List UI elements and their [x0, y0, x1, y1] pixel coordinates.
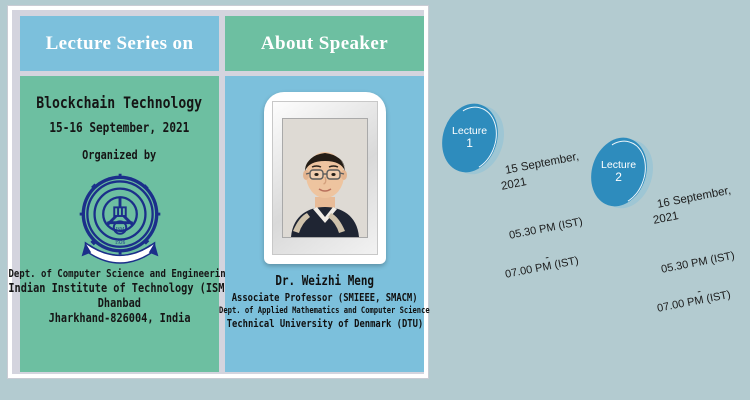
lecture-1-date-line1: 15 September,: [504, 150, 580, 180]
affiliation-city: Dhanbad: [98, 296, 141, 310]
poster-card: Lecture Series on Blockchain Technology …: [8, 6, 428, 378]
affiliation-region: Jharkhand-826004, India: [49, 311, 191, 325]
lecture-2-date-line1: 16 September,: [656, 184, 732, 214]
lecture-2-date-line2: 2021: [652, 209, 680, 229]
speaker-portrait-icon: [282, 118, 368, 238]
lecture-series-header: Lecture Series on: [20, 16, 219, 71]
event-dates: 15-16 September, 2021: [50, 121, 190, 136]
lecture-1-time-start: 05.30 PM (IST): [508, 215, 584, 244]
affiliation-dept: Dept. of Computer Science and Engineerin…: [8, 268, 231, 280]
organized-by-label: Organized by: [82, 148, 156, 162]
lecture-2-time-end: 07.00 PM (IST): [656, 288, 732, 317]
event-title: Blockchain Technology: [37, 94, 203, 112]
poster-canvas: Lecture Series on Blockchain Technology …: [0, 0, 750, 400]
lecture-2-bubble[interactable]: Lecture 2: [592, 137, 648, 209]
about-speaker-header: About Speaker: [225, 16, 424, 71]
lecture-1-date-line2: 2021: [500, 175, 528, 195]
about-speaker-body: Dr. Weizhi Meng Associate Professor (SMI…: [225, 76, 424, 372]
lecture-series-body: Blockchain Technology 15-16 September, 2…: [20, 76, 219, 372]
affiliation-institute: Indian Institute of Technology (ISM): [8, 281, 230, 295]
lecture-1-time-end: 07.00 PM (IST): [504, 254, 580, 283]
speaker-department: Dept. of Applied Mathematics and Compute…: [219, 306, 430, 316]
iit-ism-dhanbad-logo-icon: ISM 1926: [72, 168, 168, 264]
lecture-2-time-start: 05.30 PM (IST): [660, 249, 736, 278]
speaker-photo-mat: [272, 101, 378, 255]
speaker-role: Associate Professor (SMIEEE, SMACM): [232, 292, 418, 304]
lecture-1-bubble[interactable]: Lecture 1: [443, 103, 499, 175]
speaker-photo-frame: [264, 92, 386, 264]
speaker-name: Dr. Weizhi Meng: [275, 274, 374, 289]
svg-text:1926: 1926: [114, 240, 125, 246]
speaker-university: Technical University of Denmark (DTU): [226, 318, 422, 330]
poster-card-inner: Lecture Series on Blockchain Technology …: [12, 10, 424, 374]
svg-text:ISM: ISM: [115, 227, 124, 232]
